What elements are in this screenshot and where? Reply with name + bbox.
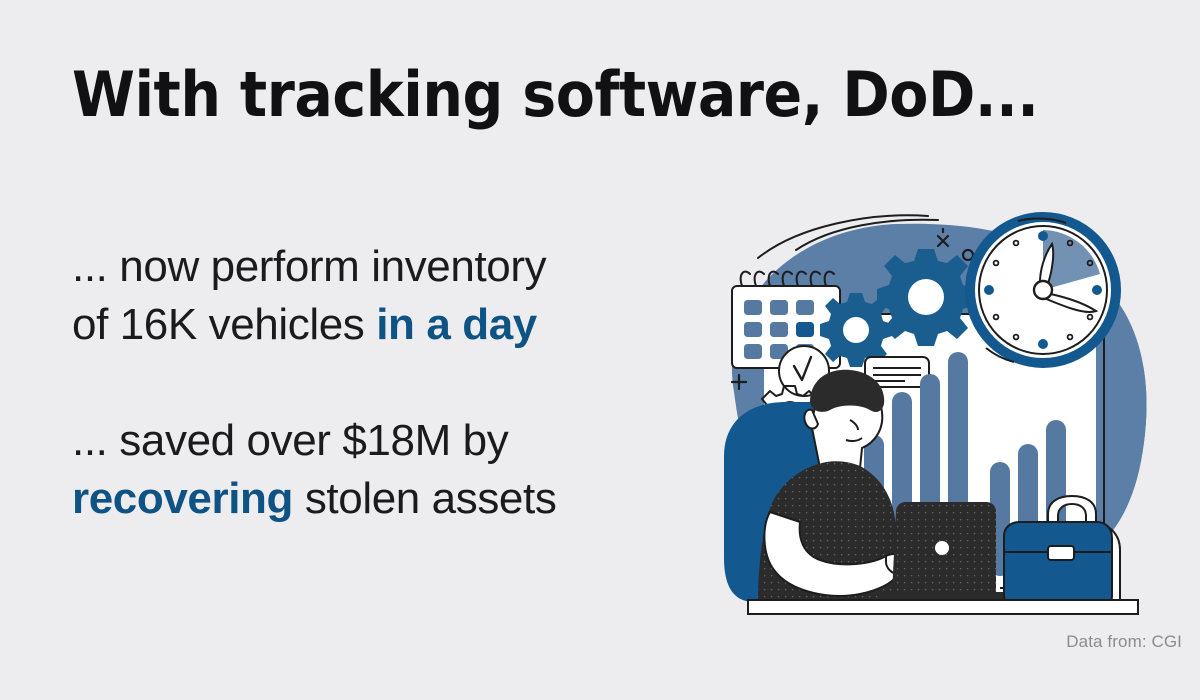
paragraph-2-line-2-plain: stolen assets — [293, 474, 556, 523]
illustration-container — [700, 196, 1170, 646]
paragraph-2-line-1: ... saved over $18M by — [72, 416, 508, 465]
page-title: With tracking software, DoD... — [72, 62, 1047, 127]
paragraph-1-line-1: ... now perform inventory — [72, 242, 546, 291]
slide-canvas: With tracking software, DoD... ... now p… — [0, 0, 1200, 700]
paragraph-savings: ... saved over $18M by recovering stolen… — [72, 412, 682, 528]
desk-surface — [748, 600, 1138, 614]
paragraph-inventory: ... now perform inventory of 16K vehicle… — [72, 238, 682, 354]
paragraph-2-highlight: recovering — [72, 474, 293, 523]
body-copy: ... now perform inventory of 16K vehicle… — [72, 238, 682, 528]
paragraph-1-line-2-plain: of 16K vehicles — [72, 300, 376, 349]
paragraph-1-highlight: in a day — [376, 300, 537, 349]
gear-small-icon — [820, 293, 892, 367]
wall-clock-icon — [970, 217, 1116, 363]
laptop — [878, 502, 1008, 600]
